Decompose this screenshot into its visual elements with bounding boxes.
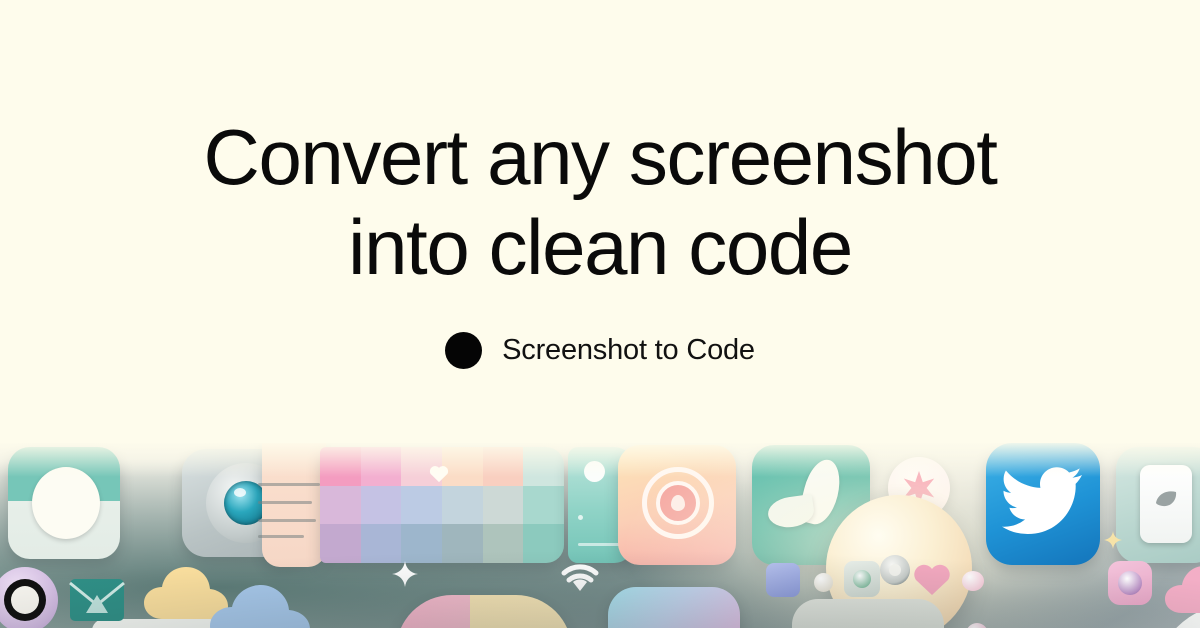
hero-section: Convert any screenshotinto clean code Sc… — [0, 0, 1200, 443]
tick-icon — [578, 515, 583, 520]
location-pin-icon — [671, 495, 685, 511]
wifi-icon — [558, 561, 602, 593]
leaf-glyph-icon — [1154, 489, 1178, 509]
mint-card-tile — [1116, 447, 1200, 563]
headline-line-2: into clean code — [348, 203, 852, 291]
twitter-bird-icon — [1002, 465, 1084, 535]
color-grid-panel — [320, 447, 564, 563]
blue-square-icon — [766, 563, 800, 597]
lavender-ring-icon — [0, 567, 58, 628]
bead-icon — [962, 571, 984, 591]
paper-plane-icon — [68, 573, 126, 625]
bead-icon — [966, 623, 988, 628]
brand-name: Screenshot to Code — [502, 334, 755, 367]
gray-panel-tile — [792, 599, 944, 628]
sparkle-icon — [392, 561, 418, 587]
peach-target-tile — [618, 445, 736, 565]
pink-cloud-icon — [1164, 563, 1200, 615]
headline-line-1: Convert any screenshot — [204, 113, 997, 201]
eye-icon — [880, 555, 910, 585]
circle-knob-icon — [32, 467, 100, 539]
brand: Screenshot to Code — [445, 332, 755, 369]
line-icon — [578, 543, 622, 546]
pink-yellow-tile — [396, 595, 572, 628]
sparkle-icon — [1104, 531, 1122, 549]
gradient-heart-tile — [608, 587, 740, 628]
dot-icon — [584, 461, 605, 482]
teal-toggle-tile — [8, 447, 120, 559]
twitter-tile — [986, 443, 1100, 565]
pink-heart-bead — [912, 561, 952, 597]
illustration-strip — [0, 443, 1200, 628]
heart-icon — [428, 463, 450, 483]
blue-cloud-icon — [208, 585, 326, 628]
green-app-icon — [844, 561, 880, 597]
page-title: Convert any screenshotinto clean code — [204, 112, 997, 292]
pink-ring-badge — [1108, 561, 1152, 605]
filled-circle-logo-icon — [445, 332, 482, 369]
slider-lines-icon — [258, 483, 320, 543]
leaf-petal-icon — [766, 494, 816, 530]
og-card: Convert any screenshotinto clean code Sc… — [0, 0, 1200, 628]
ring-core-icon — [11, 586, 39, 614]
bead-icon — [814, 573, 833, 592]
lens-highlight-icon — [234, 488, 246, 497]
